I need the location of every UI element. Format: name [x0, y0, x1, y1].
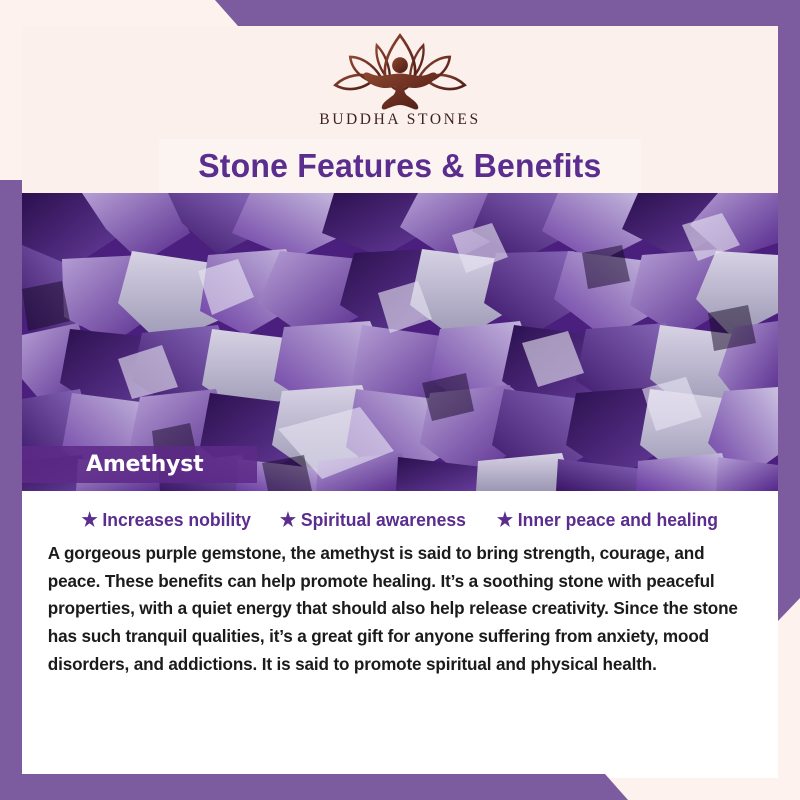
benefit-item-1: ★ Spiritual awareness: [280, 509, 466, 531]
product-info-card: BUDDHA STONES Stone Features & Benefits: [22, 26, 778, 778]
star-icon: ★: [280, 511, 296, 530]
benefit-item-2: ★ Inner peace and healing: [496, 509, 717, 531]
content-area: ★ Increases nobility ★ Spiritual awarene…: [22, 491, 778, 778]
hero-image: Amethyst: [22, 193, 778, 491]
star-icon: ★: [81, 511, 97, 530]
lotus-meditation-icon: [315, 32, 485, 110]
benefits-list: ★ Increases nobility ★ Spiritual awarene…: [34, 491, 766, 540]
stone-name-tag: Amethyst: [22, 446, 257, 483]
frame-left-strip: [0, 180, 22, 800]
title-box: Stone Features & Benefits: [159, 139, 641, 193]
brand-name: BUDDHA STONES: [319, 111, 480, 129]
stone-name-label: Amethyst: [86, 452, 203, 477]
brand-header: BUDDHA STONES: [22, 26, 778, 138]
benefit-label: Inner peace and healing: [517, 509, 717, 531]
page-title: Stone Features & Benefits: [198, 147, 601, 185]
title-band: Stone Features & Benefits: [22, 138, 778, 193]
frame-top-band: [215, 0, 800, 26]
benefit-label: Increases nobility: [102, 509, 250, 531]
benefit-item-0: ★ Increases nobility: [81, 509, 250, 531]
benefit-label: Spiritual awareness: [301, 509, 466, 531]
frame-right-strip: [778, 0, 800, 621]
star-icon: ★: [496, 511, 512, 530]
stone-description: A gorgeous purple gemstone, the amethyst…: [34, 540, 755, 678]
